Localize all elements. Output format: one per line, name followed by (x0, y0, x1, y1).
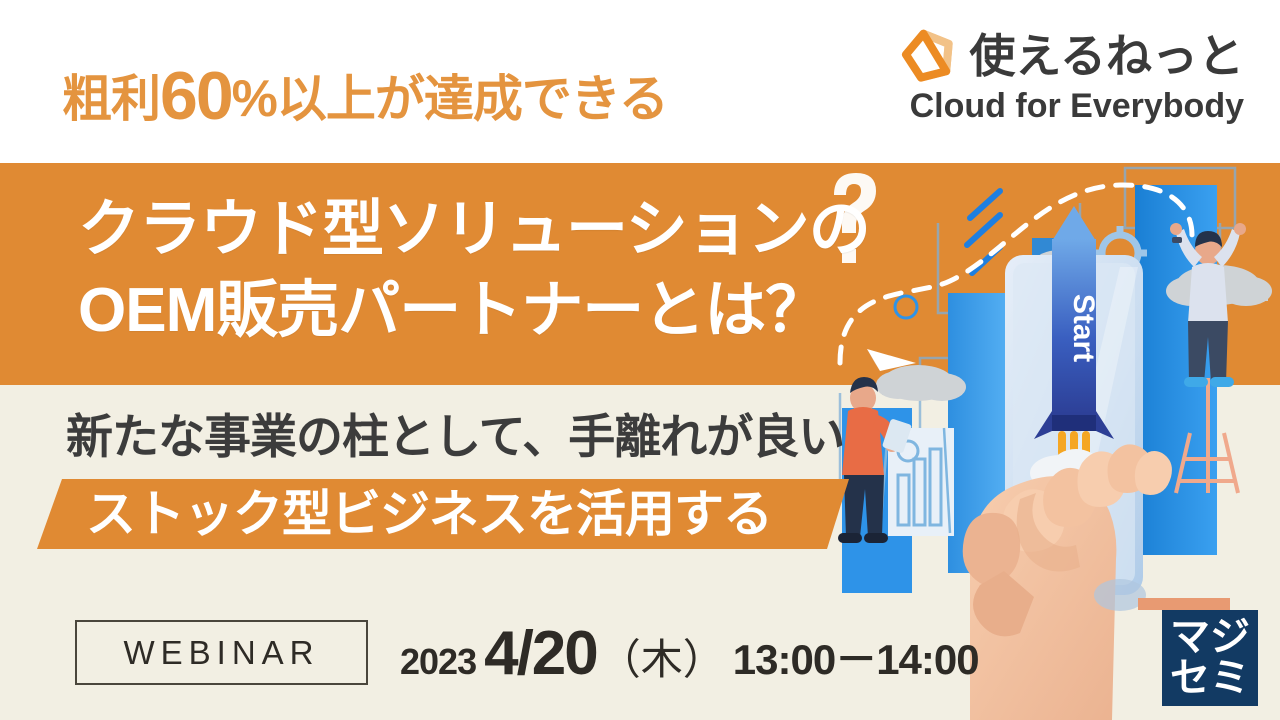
headline-prefix: 粗利 (62, 71, 160, 127)
headline-percent: % (232, 70, 277, 128)
banner-canvas: Start (0, 0, 1280, 720)
event-datetime: 2023 4/20 （木） 13:00－14:00 (400, 618, 979, 688)
majisemi-line-2: セミ (1170, 658, 1250, 699)
main-title: クラウド型ソリューションの OEM販売パートナーとは？ (78, 190, 870, 351)
brand-tagline: Cloud for Everybody (874, 88, 1244, 125)
brand-name: 使えるねっと (969, 33, 1244, 79)
headline-number: 60 (160, 58, 232, 134)
headline: 粗利60%以上が達成できる (62, 62, 668, 130)
webinar-badge: WEBINAR (75, 620, 368, 685)
maji-accent-bar (1138, 598, 1230, 610)
brand-logo-row: 使えるねっと (874, 28, 1244, 84)
rocket-start-label: Start (1067, 294, 1100, 362)
event-year: 2023 (400, 641, 476, 683)
event-time: 13:00－14:00 (733, 626, 979, 687)
pentagon-house-icon (901, 28, 957, 84)
event-month-day: 4/20 (484, 618, 597, 689)
subtitle-line-1: 新たな事業の柱として、手離れが良い (66, 413, 844, 460)
main-title-line-2: OEM販売パートナーとは？ (78, 271, 870, 352)
majisemi-line-1: マジ (1170, 617, 1250, 658)
headline-suffix: 以上が達成できる (277, 71, 668, 127)
main-title-line-1: クラウド型ソリューションの (78, 190, 870, 271)
subtitle-line-2: ストック型ビジネスを活用する (86, 489, 772, 539)
brand-logo: 使えるねっと Cloud for Everybody (874, 28, 1244, 125)
majisemi-logo: マジ セミ (1162, 610, 1258, 706)
event-day-of-week: （木） (599, 626, 725, 687)
